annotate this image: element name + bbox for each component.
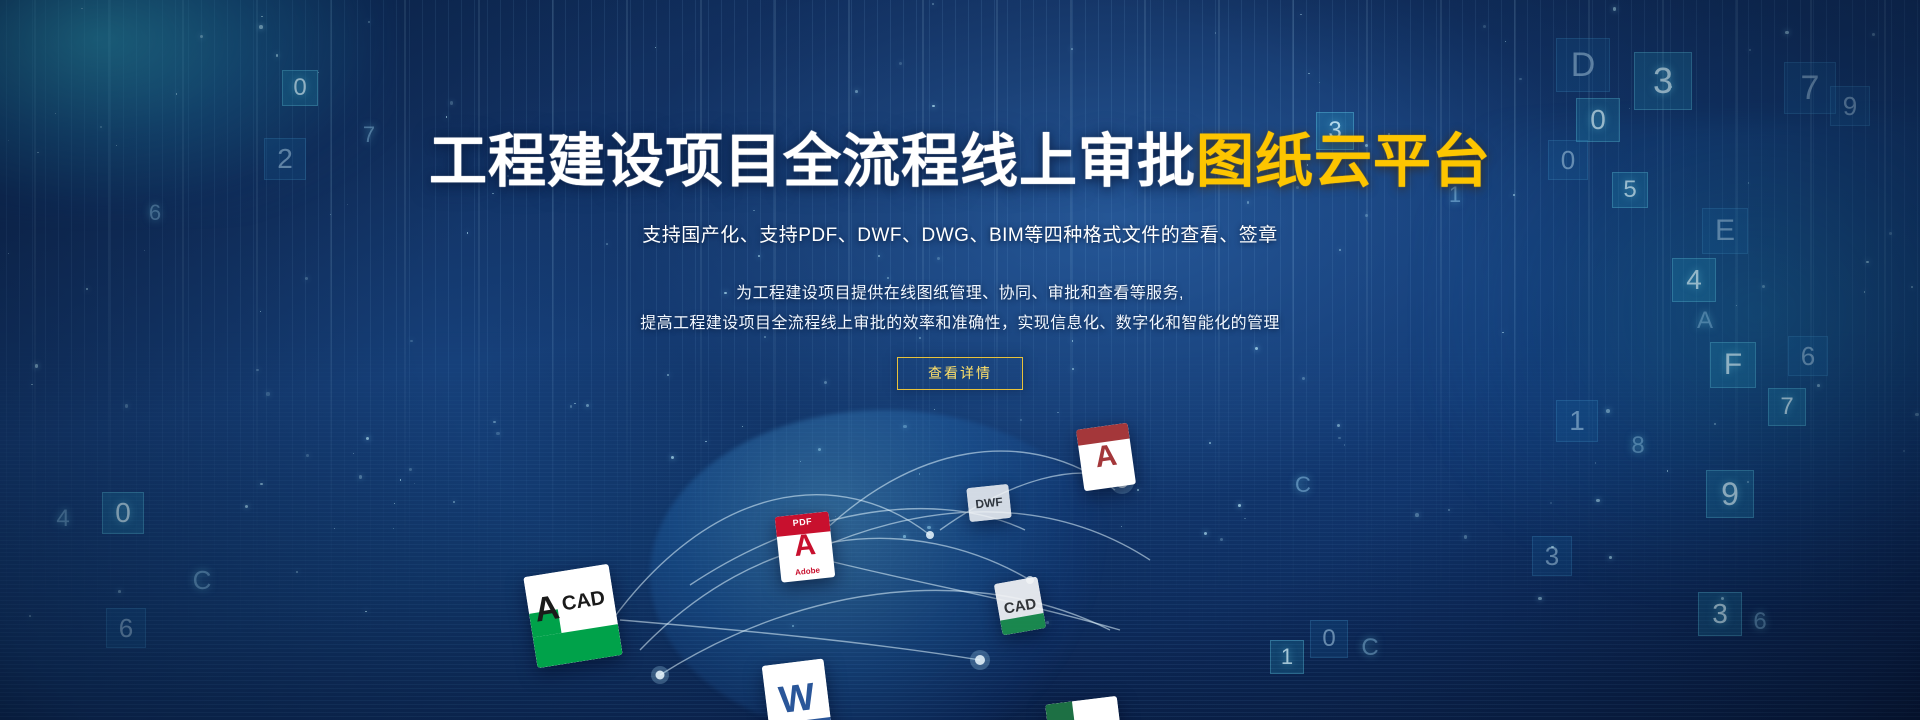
background-digit-tile: C (1286, 468, 1320, 502)
background-digit-tile: C (182, 560, 222, 600)
page-title-accent: 图纸云平台 (1196, 129, 1491, 194)
particle-dot (570, 405, 572, 407)
cta-container: 查看详情 (0, 339, 1920, 391)
particle-dot (353, 453, 354, 454)
particle-dot (1121, 471, 1122, 472)
dwf-file-icon: DWF (966, 484, 1011, 522)
particle-dot (1464, 535, 1467, 538)
autocad-icon-label: CAD (560, 587, 606, 616)
particle-dot (1551, 546, 1554, 549)
background-digit-tile: 0 (1310, 620, 1348, 658)
particle-dot (125, 404, 128, 407)
hero-description-line-2: 提高工程建设项目全流程线上审批的效率和准确性，实现信息化、数字化和智能化的管理 (0, 309, 1920, 339)
access-file-icon: A (1076, 423, 1136, 492)
background-digit-tile: 8 (1620, 428, 1656, 464)
particle-dot (1220, 538, 1223, 541)
particle-dot (394, 503, 395, 504)
particle-dot (818, 448, 821, 451)
hero-banner: D37093015E4AF67189C3360C1C6042706 (0, 0, 1920, 720)
background-digit-tile: 1 (1556, 400, 1598, 442)
page-title: 工程建设项目全流程线上审批图纸云平台 (0, 0, 1920, 191)
particle-dot (1204, 532, 1207, 535)
particle-dot (1721, 597, 1724, 600)
background-digit-tile: 6 (1742, 604, 1778, 640)
word-icon-letter: W (762, 658, 833, 720)
particle-dot (1609, 556, 1612, 559)
particle-dot (296, 571, 298, 573)
particle-dot (453, 501, 455, 503)
particle-dot (245, 505, 248, 508)
particle-dot (29, 615, 31, 617)
particle-dot (1244, 518, 1246, 520)
particle-dot (1538, 597, 1541, 600)
hero-content: 工程建设项目全流程线上审批图纸云平台 支持国产化、支持PDF、DWF、DWG、B… (0, 0, 1920, 390)
autocad-icon-letter: A (532, 588, 562, 630)
particle-dot (586, 605, 589, 608)
particle-dot (1595, 462, 1597, 464)
background-digit-tile: 3 (1698, 592, 1742, 636)
particle-dot (903, 535, 906, 538)
globe-graphic (650, 410, 1120, 720)
particle-dot (334, 528, 335, 529)
particle-dot (493, 421, 495, 423)
particle-dot (705, 441, 707, 443)
particle-dot (586, 404, 589, 407)
particle-dot (934, 409, 935, 410)
background-digit-tile: 3 (1532, 536, 1572, 576)
dwg-file-icon: CAD (994, 577, 1046, 636)
particle-dot (574, 403, 576, 405)
particle-dot (1137, 489, 1140, 492)
particle-dot (1915, 413, 1918, 416)
particle-dot (366, 437, 369, 440)
particle-dot (1209, 442, 1211, 444)
excel-icon-letter: X (1045, 696, 1127, 720)
particle-dot (742, 426, 743, 427)
access-icon-letter: A (1076, 423, 1136, 492)
particle-dot (903, 425, 906, 428)
pdf-icon-sub-label: Adobe (780, 564, 835, 579)
background-digit-tile: 9 (1706, 470, 1754, 518)
dwg-icon-letter: CAD (994, 577, 1046, 636)
particle-dot (1415, 513, 1419, 517)
particle-dot (1238, 504, 1241, 507)
autocad-file-icon: A CAD (523, 564, 622, 668)
hero-description: 为工程建设项目提供在线图纸管理、协同、审批和查看等服务, 提高工程建设项目全流程… (0, 251, 1920, 339)
particle-dot (1113, 436, 1115, 438)
particle-dot (414, 483, 415, 484)
particle-dot (792, 625, 794, 627)
particle-dot (1046, 621, 1049, 624)
word-file-icon: W (762, 658, 833, 720)
particle-dot (835, 516, 836, 517)
particle-dot (1338, 437, 1340, 439)
particle-dot (1121, 526, 1122, 527)
particle-dot (1606, 409, 1610, 413)
background-digit-tile: 7 (1768, 388, 1806, 426)
particle-dot (1714, 423, 1716, 425)
background-digit-tile: C (1352, 630, 1388, 666)
particle-dot (919, 473, 920, 474)
pdf-file-icon: PDF A Adobe (775, 511, 836, 582)
hero-subtitle: 支持国产化、支持PDF、DWF、DWG、BIM等四种格式文件的查看、签章 (0, 191, 1920, 251)
particle-dot (800, 461, 801, 462)
particle-dot (409, 468, 412, 471)
particle-dot (266, 392, 269, 395)
particle-dot (400, 479, 401, 480)
background-digit-tile: 0 (102, 492, 144, 534)
particle-dot (1448, 509, 1449, 510)
particle-dot (365, 611, 366, 612)
particle-dot (1021, 615, 1022, 616)
particle-dot (260, 483, 263, 486)
particle-dot (118, 590, 121, 593)
particle-dot (306, 454, 309, 457)
particle-dot (496, 432, 499, 435)
view-details-button[interactable]: 查看详情 (897, 357, 1023, 391)
particle-dot (1596, 499, 1599, 502)
particle-dot (1747, 481, 1749, 483)
particle-dot (551, 619, 554, 622)
particle-dot (798, 558, 801, 561)
particle-dot (1903, 450, 1905, 452)
background-digit-tile: 1 (1270, 640, 1304, 674)
particle-dot (1337, 424, 1340, 427)
background-digit-tile: 6 (106, 608, 146, 648)
excel-file-icon: X (1045, 696, 1127, 720)
pdf-icon-top-label: PDF (775, 514, 830, 530)
particle-dot (359, 475, 362, 478)
particle-dot (393, 528, 394, 529)
background-digit-tile: 4 (44, 500, 82, 538)
particle-dot (1550, 502, 1552, 504)
particle-dot (671, 456, 674, 459)
particle-dot (1667, 470, 1669, 472)
particle-dot (1344, 444, 1345, 445)
particle-dot (927, 526, 930, 529)
page-title-main: 工程建设项目全流程线上审批 (429, 129, 1196, 194)
hero-description-line-1: 为工程建设项目提供在线图纸管理、协同、审批和查看等服务, (0, 279, 1920, 309)
pdf-icon-letter: A (776, 528, 833, 563)
particle-dot (1020, 419, 1022, 421)
dwf-icon-letter: DWF (966, 484, 1011, 522)
particle-dot (1057, 412, 1059, 414)
